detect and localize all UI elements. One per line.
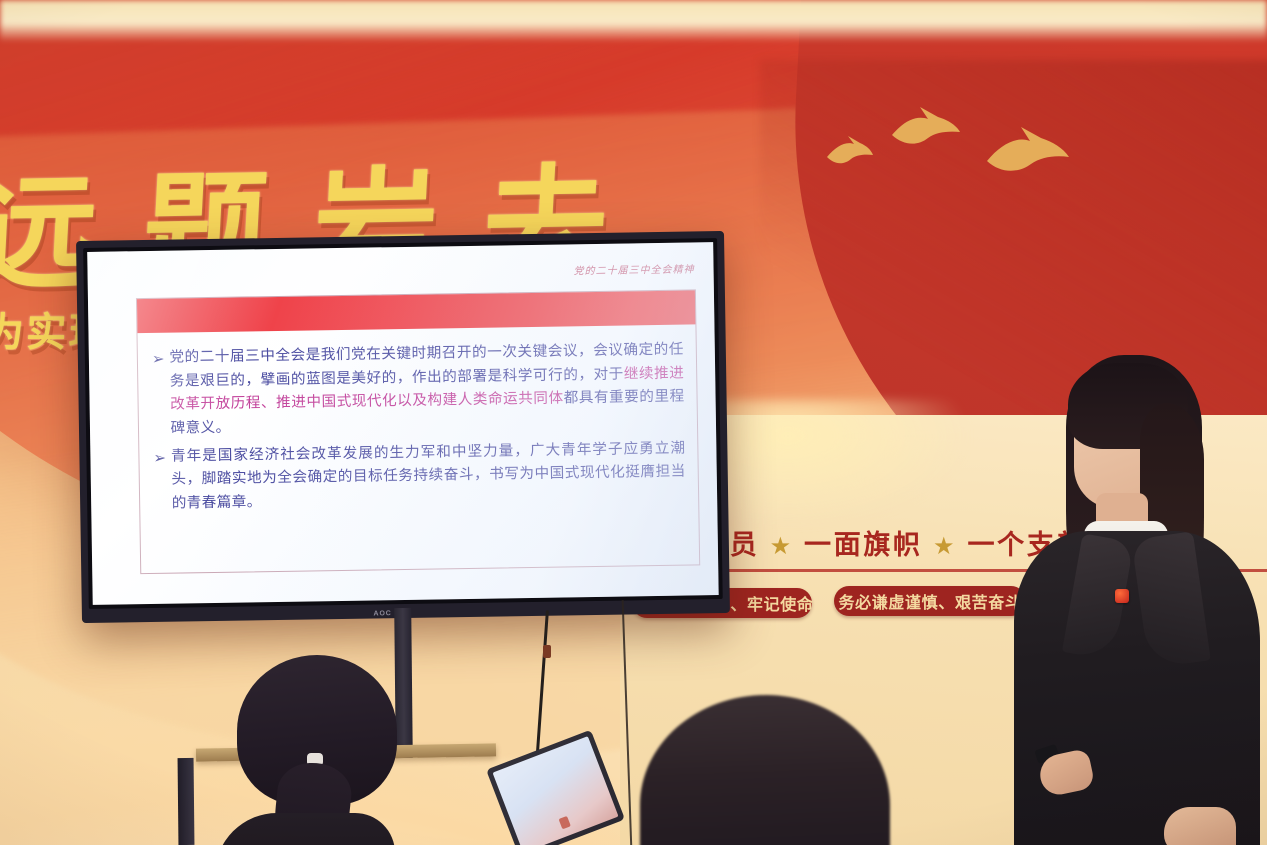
dove-icon: [985, 125, 1071, 181]
presenter-hand-right: [1164, 807, 1236, 845]
photo-scene: 远 题 岩 去 为实现 党员 ★ 一面旗帜 ★ 一个支部 务必不忘初心、牢记使命…: [0, 0, 1267, 845]
slide-bullet-text: 党的二十届三中全会是我们党在关键时期召开的一次关键会议，会议确定的任务是艰巨的，…: [169, 339, 685, 442]
cable-connector: [543, 645, 551, 658]
slide-text-normal: 青年是国家经济社会改革发展的生力军和中坚力量，广大青年学子应勇立潮头，脚踏实地为…: [171, 440, 686, 511]
slide-bullet-list: ➢党的二十届三中全会是我们党在关键时期召开的一次关键会议，会议确定的任务是艰巨的…: [152, 339, 687, 521]
ceiling-light-strip: [0, 0, 1267, 42]
slide-bullet-text: 青年是国家经济社会改革发展的生力军和中坚力量，广大青年学子应勇立潮头，脚踏实地为…: [171, 437, 686, 516]
slide-title-bar: [137, 290, 695, 333]
star-icon: ★: [933, 533, 957, 560]
bullet-marker-icon: ➢: [152, 347, 165, 371]
dove-icon: [826, 135, 874, 169]
display-stand-leg: [178, 758, 195, 845]
panel-badge: 务必谦虚谨慎、艰苦奋斗: [834, 586, 1026, 616]
audience-shoulders: [215, 813, 395, 845]
party-emblem-pin-icon: [1115, 589, 1129, 603]
slide-content-frame: ➢党的二十届三中全会是我们党在关键时期召开的一次关键会议，会议确定的任务是艰巨的…: [136, 289, 700, 574]
presentation-display: 党的二十届三中全会精神 ➢党的二十届三中全会是我们党在关键时期召开的一次关键会议…: [76, 231, 730, 623]
audience-head: [640, 695, 890, 845]
star-icon: ★: [770, 533, 794, 560]
display-brand-logo: AOC: [373, 610, 391, 617]
slide-surface: 党的二十届三中全会精神 ➢党的二十届三中全会是我们党在关键时期召开的一次关键会议…: [87, 242, 718, 605]
panel-slogan-mid: 一面旗帜: [804, 530, 923, 560]
presenter-person: [1012, 355, 1267, 845]
slide-text-normal: 党的二十届三中全会是我们党在关键时期召开的一次关键会议，会议确定的任务是艰巨的，…: [169, 342, 684, 390]
audience-person-right: [610, 695, 940, 845]
audience-person-left: [215, 655, 425, 845]
slide-corner-tag: 党的二十届三中全会精神: [573, 260, 694, 277]
bullet-marker-icon: ➢: [153, 445, 166, 469]
dove-icon: [890, 105, 962, 153]
slide-bullet-item: ➢青年是国家经济社会改革发展的生力军和中坚力量，广大青年学子应勇立潮头，脚踏实地…: [153, 437, 686, 516]
slide-bullet-item: ➢党的二十届三中全会是我们党在关键时期召开的一次关键会议，会议确定的任务是艰巨的…: [152, 339, 685, 442]
